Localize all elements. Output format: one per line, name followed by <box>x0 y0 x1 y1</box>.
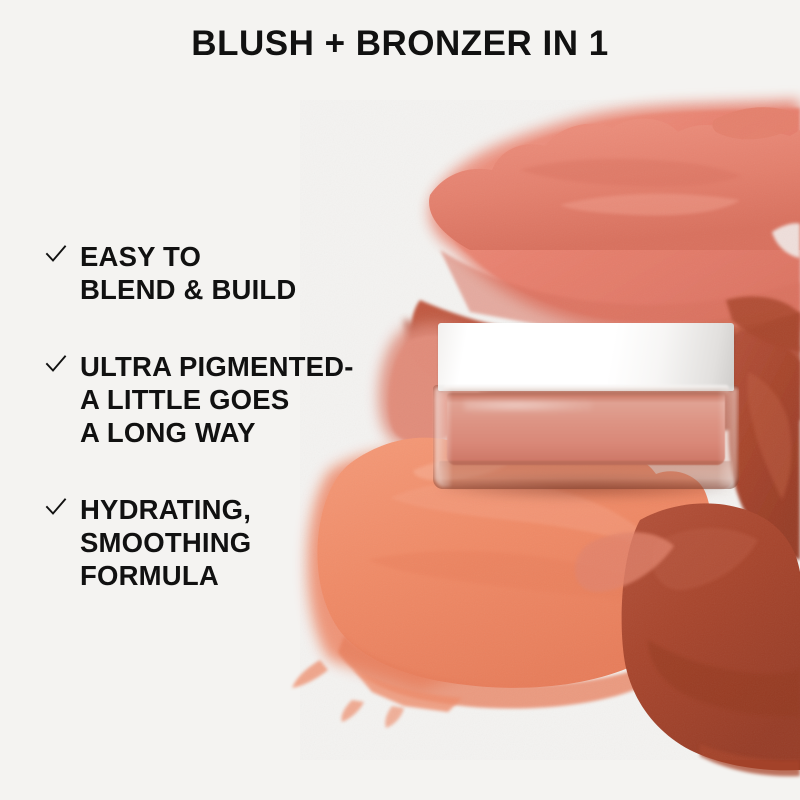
benefit-text: HYDRATING, SMOOTHING FORMULA <box>80 493 251 592</box>
page-title: BLUSH + BRONZER IN 1 <box>0 24 800 64</box>
product-marketing-image: BLUSH + BRONZER IN 1 EASY TO BLEND & BUI… <box>0 0 800 800</box>
check-icon <box>44 495 68 525</box>
jar-rim <box>443 385 729 394</box>
benefit-text: EASY TO BLEND & BUILD <box>80 240 296 306</box>
jar-highlight-right <box>719 387 737 487</box>
benefits-list: EASY TO BLEND & BUILD ULTRA PIGMENTED- A… <box>44 240 444 636</box>
product-jar <box>433 323 739 495</box>
check-icon <box>44 242 68 272</box>
jar-cream-product <box>447 393 725 465</box>
jar-base <box>439 461 733 489</box>
list-item: ULTRA PIGMENTED- A LITTLE GOES A LONG WA… <box>44 350 444 449</box>
check-icon <box>44 352 68 382</box>
list-item: HYDRATING, SMOOTHING FORMULA <box>44 493 444 592</box>
benefit-text: ULTRA PIGMENTED- A LITTLE GOES A LONG WA… <box>80 350 354 449</box>
list-item: EASY TO BLEND & BUILD <box>44 240 444 306</box>
jar-lid <box>438 323 734 391</box>
